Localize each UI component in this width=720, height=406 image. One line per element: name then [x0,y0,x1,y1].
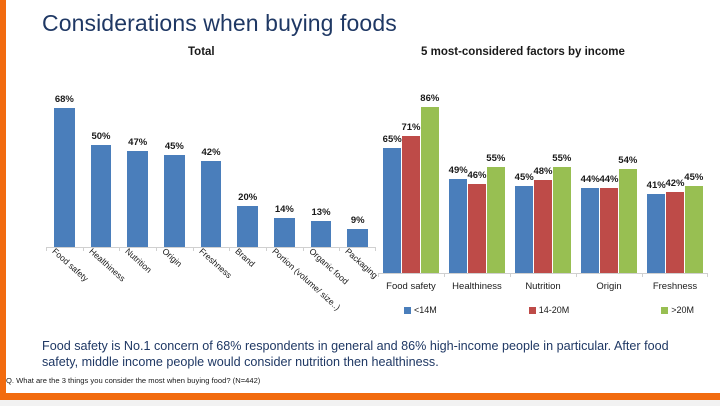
bar[interactable]: 50% [91,145,112,247]
bar-series-total: 68%50%47%45%42%20%14%13%9% [46,88,376,247]
bar-group: 65%71%86% [378,84,444,273]
x-axis-label: Origin [576,281,642,292]
bar-value-label: 20% [238,192,257,203]
bar-slot: 13% [303,88,340,247]
bottom-strip [0,400,720,406]
chart-title-total: Total [188,46,215,58]
legend-swatch-icon [529,307,536,314]
bar-value-label: 45% [165,141,184,152]
question-note: Q. What are the 3 things you consider th… [6,376,260,385]
conclusion-text: Food safety is No.1 concern of 68% respo… [42,338,692,370]
bar[interactable]: 44% [600,188,618,273]
bar-group: 44%44%54% [576,84,642,273]
bar[interactable]: 42% [201,161,222,247]
bar[interactable]: 48% [534,180,552,273]
bar-value-label: 71% [401,122,420,133]
bar[interactable]: 41% [647,194,665,273]
x-axis-labels-total: Food safetyHealthinessNutritionOriginFre… [46,246,376,336]
legend-swatch-icon [404,307,411,314]
bar-value-label: 44% [581,174,600,185]
bar-value-label: 44% [599,174,618,185]
bar[interactable]: 55% [553,167,571,273]
bar-value-label: 42% [202,147,221,158]
left-accent-bar [0,0,6,406]
bar[interactable]: 14% [274,218,295,247]
x-axis-label: Origin [160,246,184,269]
x-axis-label: Food safety [50,246,90,283]
x-axis-label: Freshness [642,281,708,292]
bar-slot: 68% [46,88,83,247]
legend-item[interactable]: <14M [404,305,437,315]
bar-slot: 45% [156,88,193,247]
bar[interactable]: 45% [515,186,533,273]
legend-label: <14M [414,305,437,315]
bar-groups-by-income: 65%71%86%49%46%55%45%48%55%44%44%54%41%4… [378,84,708,273]
x-axis-label: Freshness [197,246,234,280]
bar-value-label: 49% [449,165,468,176]
bar-value-label: 41% [647,180,666,191]
x-axis-label: Nutrition [124,246,154,275]
bar[interactable]: 9% [347,229,368,247]
legend-item[interactable]: >20M [661,305,694,315]
bar-value-label: 45% [515,172,534,183]
bar-value-label: 9% [351,215,365,226]
bar-group: 41%42%45% [642,84,708,273]
bar-value-label: 65% [383,134,402,145]
chart-by-income: 65%71%86%49%46%55%45%48%55%44%44%54%41%4… [378,64,708,279]
chart-total: 68%50%47%45%42%20%14%13%9% [46,64,376,244]
plot-area-total: 68%50%47%45%42%20%14%13%9% [46,88,376,248]
x-axis-label: Nutrition [510,281,576,292]
bar-slot: 42% [193,88,230,247]
bar-value-label: 46% [467,170,486,181]
bar[interactable]: 71% [402,136,420,273]
legend-item[interactable]: 14-20M [529,305,570,315]
x-axis-label: Healthiness [87,246,127,283]
x-axis-label: Brand [234,246,258,269]
x-axis-label: Portion (volume/ size..) [270,246,342,312]
bar-value-label: 42% [665,178,684,189]
bar[interactable]: 47% [127,151,148,247]
bar[interactable]: 42% [666,192,684,273]
bar[interactable]: 55% [487,167,505,273]
legend-swatch-icon [661,307,668,314]
bar-value-label: 55% [486,153,505,164]
bar[interactable]: 49% [449,179,467,274]
bar-value-label: 14% [275,204,294,215]
bar-slot: 20% [229,88,266,247]
bottom-accent-bar [0,393,720,400]
bar[interactable]: 86% [421,107,439,273]
bar-slot: 47% [119,88,156,247]
legend-label: 14-20M [539,305,570,315]
bar[interactable]: 46% [468,184,486,273]
x-axis-label: Food safety [378,281,444,292]
bar-group: 49%46%55% [444,84,510,273]
bar-slot: 9% [339,88,376,247]
bar-slot: 50% [83,88,120,247]
bar[interactable]: 44% [581,188,599,273]
bar[interactable]: 13% [311,221,332,248]
bar[interactable]: 20% [237,206,258,247]
bar-value-label: 55% [552,153,571,164]
bar-value-label: 86% [420,93,439,104]
bar[interactable]: 45% [685,186,703,273]
legend-label: >20M [671,305,694,315]
bar-value-label: 45% [684,172,703,183]
bar-value-label: 47% [128,137,147,148]
chart-legend: <14M14-20M>20M [404,305,694,315]
bar[interactable]: 54% [619,169,637,273]
bar-value-label: 50% [91,131,110,142]
bar-value-label: 68% [55,94,74,105]
bar-value-label: 13% [312,207,331,218]
bar[interactable]: 45% [164,155,185,247]
bar[interactable]: 65% [383,148,401,273]
page-title: Considerations when buying foods [42,10,397,37]
x-axis-label: Healthiness [444,281,510,292]
bar-value-label: 48% [533,166,552,177]
x-axis-labels-by-income: Food safetyHealthinessNutritionOriginFre… [378,281,708,292]
bar-slot: 14% [266,88,303,247]
plot-area-by-income: 65%71%86%49%46%55%45%48%55%44%44%54%41%4… [378,84,708,274]
bar-value-label: 54% [618,155,637,166]
slide-canvas: Considerations when buying foods Total 5… [0,0,720,406]
x-axis-label: Packaging [344,246,381,280]
bar-group: 45%48%55% [510,84,576,273]
chart-title-by-income: 5 most-considered factors by income [421,46,625,58]
bar[interactable]: 68% [54,108,75,247]
